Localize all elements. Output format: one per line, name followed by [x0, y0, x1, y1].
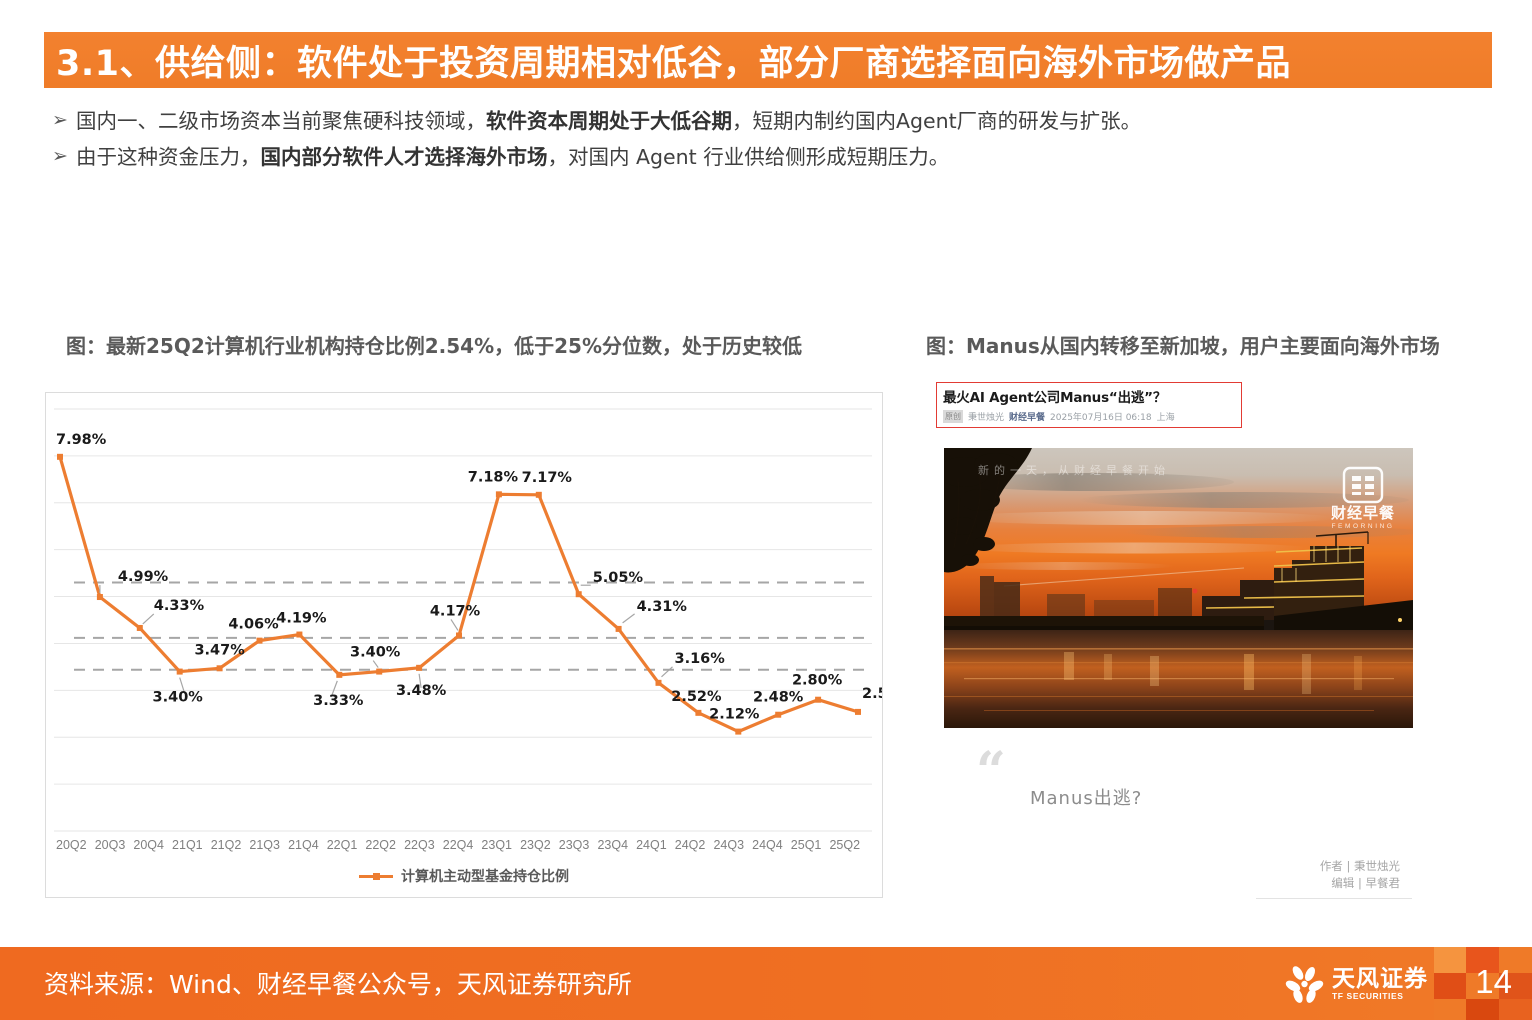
data-point-23Q1	[496, 491, 502, 497]
x-tick-24Q2: 24Q2	[671, 838, 710, 860]
article-credits: 作者 | 秉世烛光 编辑 | 早餐君	[1320, 858, 1400, 892]
data-label-23Q1: 7.18%	[468, 469, 519, 485]
bullet-text-1: 国内一、二级市场资本当前聚焦硬科技领域，软件资本周期处于大低谷期，短期内制约国内…	[76, 108, 1141, 135]
chart-svg: 7.98%4.99%4.33%3.40%3.47%4.06%4.19%3.33%…	[46, 393, 882, 897]
data-point-20Q4	[137, 625, 143, 631]
data-label-23Q2: 7.17%	[522, 470, 573, 486]
data-point-22Q2	[376, 669, 382, 675]
data-point-22Q4	[456, 632, 462, 638]
data-label-21Q2: 3.47%	[194, 642, 245, 658]
data-label-25Q2: 2.54%	[862, 686, 882, 702]
data-point-22Q3	[416, 665, 422, 671]
data-label-22Q4: 4.17%	[430, 603, 481, 619]
data-label-25Q1: 2.80%	[792, 673, 843, 689]
data-label-22Q1: 3.33%	[313, 693, 364, 709]
bullet-1-part-3: ，短期内制约国内Agent厂商的研发与扩张。	[732, 109, 1141, 133]
article-datetime: 2025年07月16日 06:18	[1050, 410, 1152, 423]
label-leader	[662, 667, 673, 677]
data-label-24Q3: 2.12%	[709, 707, 760, 723]
bullet-1-part-2: 软件资本周期处于大低谷期	[486, 109, 732, 133]
left-chart-caption: 图：最新25Q2计算机行业机构持仓比例2.54%，低于25%分位数，处于历史较低	[66, 330, 802, 359]
x-tick-25Q2: 25Q2	[825, 838, 864, 860]
sunset-cityscape-illustration: 新的一天，从财经早餐开始 财经早餐 FEMORNING	[944, 448, 1413, 728]
x-tick-21Q3: 21Q3	[245, 838, 284, 860]
bullet-2-part-1: 由于这种资金压力，	[76, 145, 261, 169]
x-tick-23Q1: 23Q1	[477, 838, 516, 860]
x-tick-25Q1: 25Q1	[787, 838, 826, 860]
x-tick-24Q3: 24Q3	[709, 838, 748, 860]
data-label-20Q4: 4.33%	[154, 598, 205, 614]
logo-name-en: TF SECURITIES	[1332, 991, 1428, 1002]
data-label-24Q2: 2.52%	[671, 689, 722, 705]
data-point-23Q4	[616, 626, 622, 632]
data-point-24Q3	[735, 729, 741, 735]
data-point-21Q1	[177, 669, 183, 675]
right-figure-caption: 图：Manus从国内转移至新加坡，用户主要面向海外市场	[926, 330, 1440, 359]
article-header-highlight: 最火AI Agent公司Manus“出逃”？ 原创 秉世烛光 财经早餐 2025…	[936, 382, 1242, 428]
data-point-25Q1	[815, 697, 821, 703]
logo-wordmark: 天风证券 TF SECURITIES	[1332, 967, 1428, 1002]
data-point-23Q3	[576, 591, 582, 597]
data-label-23Q4: 4.31%	[637, 599, 688, 615]
original-badge: 原创	[943, 410, 963, 423]
article-hero-image: 新的一天，从财经早餐开始 财经早餐 FEMORNING	[944, 448, 1413, 728]
x-tick-22Q4: 22Q4	[439, 838, 478, 860]
bullet-arrow-icon: ➢	[50, 108, 76, 134]
quote-open-icon: “	[976, 752, 1006, 792]
bullet-text-2: 由于这种资金压力，国内部分软件人才选择海外市场，对国内 Agent 行业供给侧形…	[76, 144, 949, 171]
bullet-2-part-2: 国内部分软件人才选择海外市场	[261, 145, 548, 169]
x-tick-23Q3: 23Q3	[555, 838, 594, 860]
data-label-22Q3: 3.48%	[396, 683, 447, 699]
data-point-21Q3	[257, 638, 263, 644]
page-number: 14	[1475, 963, 1512, 1001]
x-tick-21Q4: 21Q4	[284, 838, 323, 860]
x-tick-24Q1: 24Q1	[632, 838, 671, 860]
x-tick-21Q1: 21Q1	[168, 838, 207, 860]
label-leader	[373, 661, 378, 668]
article-author: 秉世烛光	[968, 410, 1004, 423]
data-label-21Q3: 4.06%	[228, 617, 279, 633]
credits-divider	[1256, 898, 1412, 899]
label-leader	[143, 614, 154, 624]
chart-x-axis: 20Q220Q320Q421Q121Q221Q321Q422Q122Q222Q3…	[52, 838, 864, 860]
list-item: ➢ 国内一、二级市场资本当前聚焦硬科技领域，软件资本周期处于大低谷期，短期内制约…	[50, 108, 1450, 135]
slide-title-bar: 3.1、供给侧：软件处于投资周期相对低谷，部分厂商选择面向海外市场做产品	[44, 32, 1492, 88]
logo-name-cn: 天风证券	[1332, 967, 1428, 991]
data-point-24Q4	[775, 712, 781, 718]
label-leader	[451, 619, 458, 630]
wechat-article-screenshot: 最火AI Agent公司Manus“出逃”？ 原创 秉世烛光 财经早餐 2025…	[926, 374, 1424, 904]
data-point-23Q2	[536, 492, 542, 498]
x-tick-24Q4: 24Q4	[748, 838, 787, 860]
data-point-24Q2	[695, 710, 701, 716]
logo-mark-icon	[1285, 964, 1325, 1004]
x-tick-22Q1: 22Q1	[323, 838, 362, 860]
x-tick-23Q4: 23Q4	[593, 838, 632, 860]
data-point-24Q1	[656, 680, 662, 686]
tf-securities-logo: 天风证券 TF SECURITIES	[1285, 962, 1428, 1006]
data-label-24Q4: 2.48%	[753, 690, 804, 706]
bullet-1-part-1: 国内一、二级市场资本当前聚焦硬科技领域，	[76, 109, 486, 133]
x-tick-20Q3: 20Q3	[91, 838, 130, 860]
x-tick-22Q2: 22Q2	[361, 838, 400, 860]
data-label-22Q2: 3.40%	[350, 645, 401, 661]
holdings-line-chart: 7.98%4.99%4.33%3.40%3.47%4.06%4.19%3.33%…	[45, 392, 883, 898]
source-note: 资料来源：Wind、财经早餐公众号，天风证券研究所	[44, 965, 632, 1001]
data-point-21Q2	[217, 665, 223, 671]
data-point-25Q2	[855, 709, 861, 715]
article-location: 上海	[1157, 410, 1175, 423]
x-tick-20Q4: 20Q4	[129, 838, 168, 860]
article-account[interactable]: 财经早餐	[1009, 410, 1045, 423]
credit-author: 作者 | 秉世烛光	[1320, 858, 1400, 875]
list-item: ➢ 由于这种资金压力，国内部分软件人才选择海外市场，对国内 Agent 行业供给…	[50, 144, 1450, 171]
article-headline: 最火AI Agent公司Manus“出逃”？	[943, 386, 1235, 406]
hero-top-text: 新的一天，从财经早餐开始	[978, 463, 1170, 477]
x-tick-23Q2: 23Q2	[516, 838, 555, 860]
chart-plot-area: 7.98%4.99%4.33%3.40%3.47%4.06%4.19%3.33%…	[46, 393, 882, 897]
bullet-2-part-3: ，对国内 Agent 行业供给侧形成短期压力。	[548, 145, 950, 169]
data-point-21Q4	[296, 632, 302, 638]
data-point-20Q3	[97, 594, 103, 600]
chart-legend: 计算机主动型基金持仓比例	[45, 866, 883, 886]
article-pullquote: Manus出逃?	[1030, 784, 1142, 810]
legend-label: 计算机主动型基金持仓比例	[401, 866, 569, 886]
data-label-20Q2: 7.98%	[56, 432, 107, 448]
data-point-22Q1	[336, 672, 342, 678]
label-leader	[623, 614, 635, 623]
x-tick-21Q2: 21Q2	[207, 838, 246, 860]
svg-text:财经早餐: 财经早餐	[1331, 504, 1395, 522]
data-label-23Q3: 5.05%	[593, 570, 644, 586]
x-tick-20Q2: 20Q2	[52, 838, 91, 860]
data-label-21Q1: 3.40%	[153, 690, 204, 706]
page-title: 3.1、供给侧：软件处于投资周期相对低谷，部分厂商选择面向海外市场做产品	[56, 35, 1291, 86]
bullet-arrow-icon: ➢	[50, 144, 76, 170]
data-label-20Q3: 4.99%	[118, 569, 169, 585]
data-label-24Q1: 3.16%	[675, 651, 726, 667]
credit-editor: 编辑 | 早餐君	[1320, 875, 1400, 892]
data-point-20Q2	[57, 454, 63, 460]
x-tick-22Q3: 22Q3	[400, 838, 439, 860]
data-label-21Q4: 4.19%	[276, 611, 327, 627]
bullet-list: ➢ 国内一、二级市场资本当前聚焦硬科技领域，软件资本周期处于大低谷期，短期内制约…	[50, 108, 1450, 180]
svg-text:FEMORNING: FEMORNING	[1331, 523, 1394, 530]
article-byline: 原创 秉世烛光 财经早餐 2025年07月16日 06:18 上海	[943, 410, 1235, 423]
legend-line-swatch	[359, 870, 393, 882]
